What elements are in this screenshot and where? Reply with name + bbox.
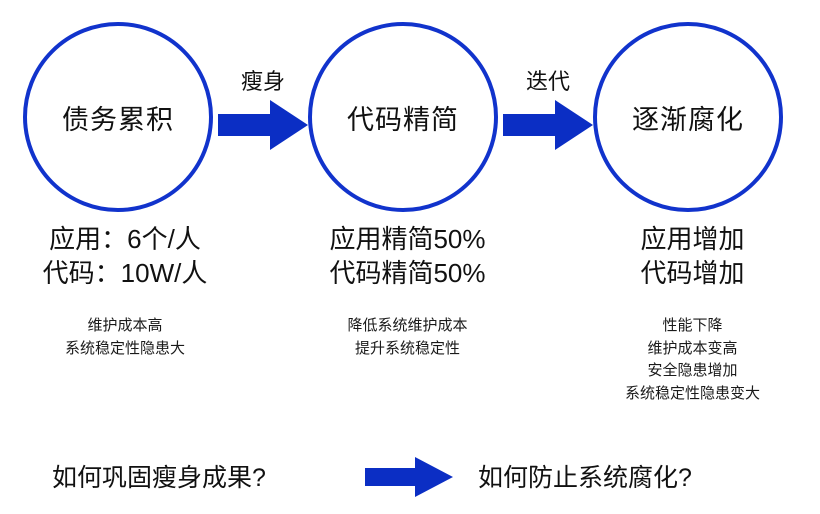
transition-label-2: 迭代 <box>503 64 593 96</box>
note-line: 系统稳定性隐患变大 <box>570 383 815 406</box>
diagram-canvas: 债务累积 代码精简 逐渐腐化 瘦身 迭代 应用：6个/人 代码：10W/人 应用… <box>0 0 820 514</box>
stage-metrics-3: 应用增加 代码增加 <box>570 222 815 291</box>
note-line: 安全隐患增加 <box>570 360 815 383</box>
note-line: 维护成本高 <box>0 315 250 338</box>
note-line: 维护成本变高 <box>570 338 815 361</box>
note-line: 系统稳定性隐患大 <box>0 338 250 361</box>
right-block-arrow-icon-1 <box>218 96 308 154</box>
transition-label-1: 瘦身 <box>218 64 308 96</box>
note-line: 提升系统稳定性 <box>285 338 530 361</box>
stage-circle-label-1: 债务累积 <box>62 98 174 137</box>
note-line: 性能下降 <box>570 315 815 338</box>
metric-line: 应用增加 <box>570 222 815 256</box>
metric-line: 代码：10W/人 <box>0 256 250 290</box>
stage-notes-3: 性能下降 维护成本变高 安全隐患增加 系统稳定性隐患变大 <box>570 315 815 405</box>
metric-line: 应用：6个/人 <box>0 222 250 256</box>
stage-circle-label-3: 逐渐腐化 <box>632 98 744 137</box>
stage-metrics-2: 应用精简50% 代码精简50% <box>285 222 530 291</box>
metric-line: 应用精简50% <box>285 222 530 256</box>
footer-question-left: 如何巩固瘦身成果? <box>52 458 266 494</box>
stage-circle-2: 代码精简 <box>308 22 498 212</box>
stage-notes-1: 维护成本高 系统稳定性隐患大 <box>0 315 250 360</box>
stage-metrics-1: 应用：6个/人 代码：10W/人 <box>0 222 250 291</box>
footer-question-right: 如何防止系统腐化? <box>478 458 692 494</box>
stage-circle-label-2: 代码精简 <box>347 98 459 137</box>
metric-line: 代码精简50% <box>285 256 530 290</box>
stage-circle-3: 逐渐腐化 <box>593 22 783 212</box>
stage-circle-1: 债务累积 <box>23 22 213 212</box>
right-block-arrow-icon-footer <box>365 455 453 499</box>
stage-notes-2: 降低系统维护成本 提升系统稳定性 <box>285 315 530 360</box>
right-block-arrow-icon-2 <box>503 96 593 154</box>
metric-line: 代码增加 <box>570 256 815 290</box>
note-line: 降低系统维护成本 <box>285 315 530 338</box>
